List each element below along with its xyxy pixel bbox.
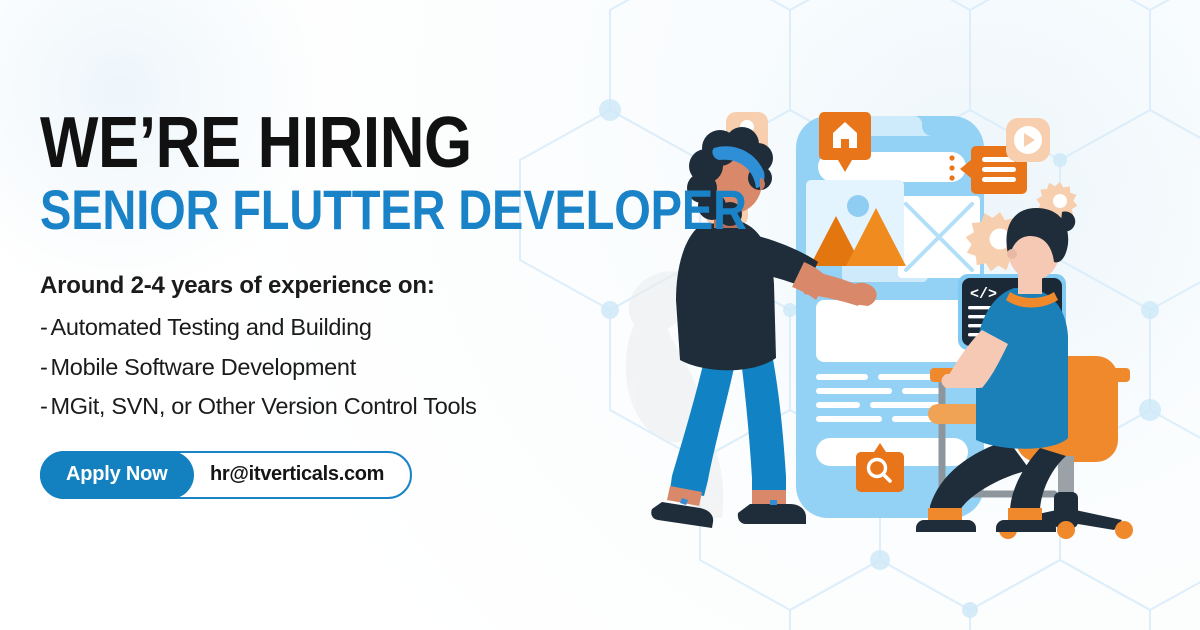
list-item-label: Automated Testing and Building — [51, 316, 372, 340]
text-column: WE’RE HIRING SENIOR FLUTTER DEVELOPER Ar… — [40, 110, 660, 499]
bullet-dash: - — [40, 395, 48, 419]
requirements-list: - Automated Testing and Building - Mobil… — [40, 316, 660, 419]
experience-requirement: Around 2-4 years of experience on: — [40, 272, 660, 300]
job-title: SENIOR FLUTTER DEVELOPER — [40, 182, 561, 238]
list-item-label: Mobile Software Development — [51, 356, 356, 380]
bullet-dash: - — [40, 316, 48, 340]
list-item: - Mobile Software Development — [40, 356, 660, 380]
list-item: - MGit, SVN, or Other Version Control To… — [40, 395, 660, 419]
page-title: WE’RE HIRING — [40, 110, 573, 176]
cta-group: hr@itverticals.com Apply Now — [40, 451, 412, 499]
hiring-banner: WE’RE HIRING SENIOR FLUTTER DEVELOPER Ar… — [0, 0, 1200, 630]
image-card — [806, 180, 906, 266]
list-item-label: MGit, SVN, or Other Version Control Tool… — [51, 395, 477, 419]
bullet-dash: - — [40, 356, 48, 380]
illustration: </> — [610, 0, 1200, 630]
list-item: - Automated Testing and Building — [40, 316, 660, 340]
apply-now-button[interactable]: Apply Now — [40, 451, 194, 499]
code-symbol: </> — [970, 286, 997, 303]
play-button-icon — [1006, 118, 1050, 162]
